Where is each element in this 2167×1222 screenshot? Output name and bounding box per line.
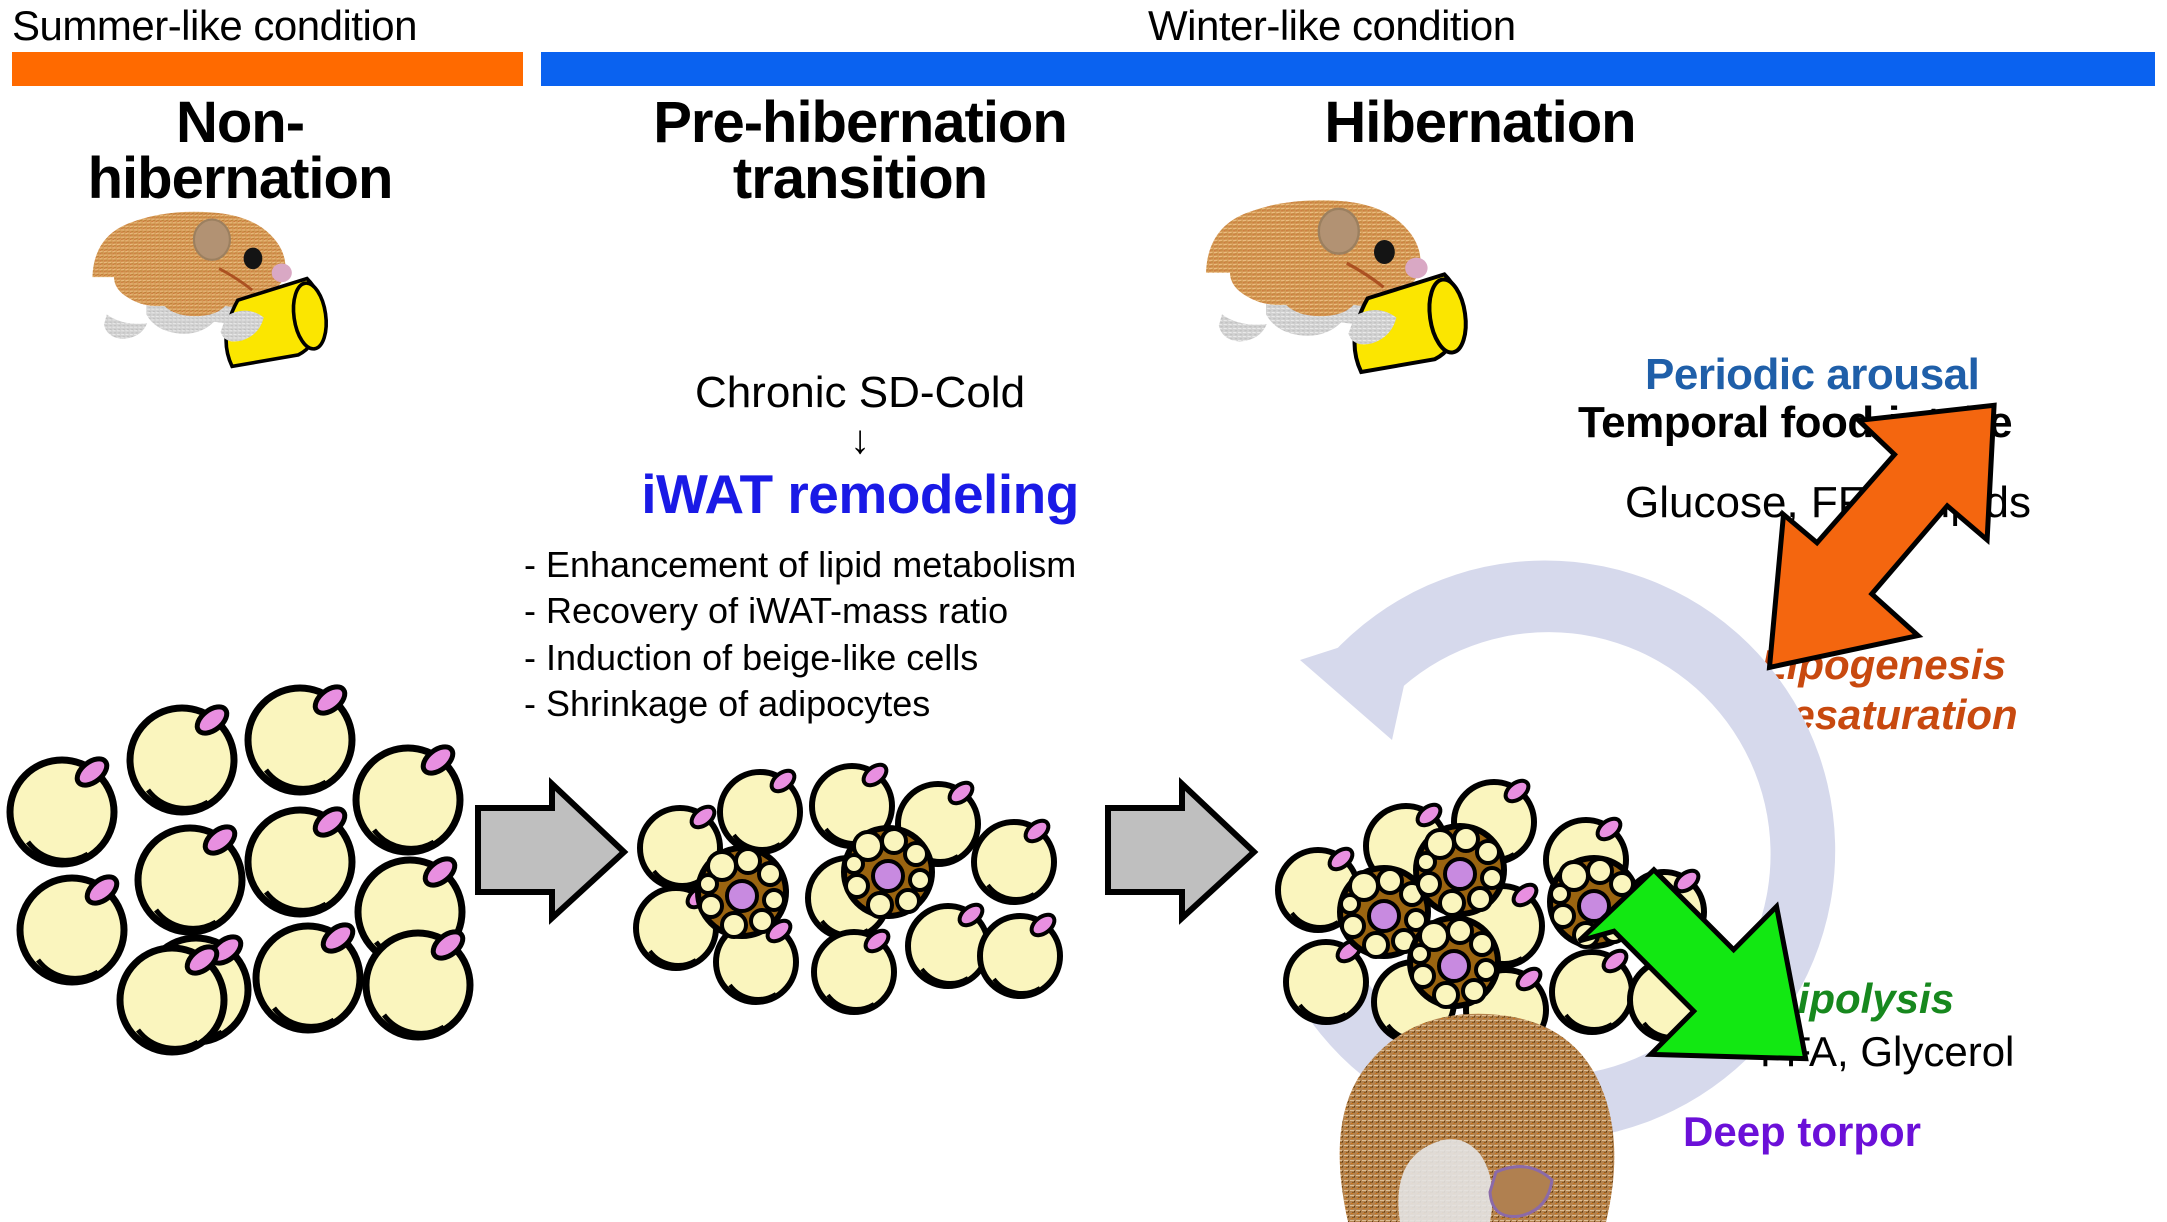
chronic-sd-cold-label: Chronic SD-Cold <box>560 368 1160 418</box>
stage-title-non-hibernation: Non- hibernation <box>0 95 480 208</box>
adipocyte-cluster-hibernation <box>1278 777 1710 1050</box>
lipogenesis-label: Lipogenesis <box>1761 640 2018 690</box>
substrates-out-label: FFA, Glycerol <box>1760 1028 2014 1076</box>
stage-title-pre-hibernation: Pre-hibernation transition <box>540 95 1180 208</box>
down-arrow-icon: ↓ <box>560 420 1160 460</box>
list-item: - Induction of beige-like cells <box>524 635 1204 681</box>
summer-condition-bar <box>12 52 523 86</box>
temporal-food-intake-label: Temporal food-intake <box>1578 398 2012 448</box>
stage-title-non-hibernation-line1: Non- <box>0 95 480 151</box>
stage-title-pre-hibernation-line1: Pre-hibernation <box>540 95 1180 151</box>
lipogenesis-desaturation-label: Lipogenesis Desaturation <box>1761 640 2018 739</box>
list-item: - Enhancement of lipid metabolism <box>524 542 1204 588</box>
substrates-in-label: Glucose, FFA, Lipids <box>1625 478 2031 528</box>
list-item: - Shrinkage of adipocytes <box>524 681 1204 727</box>
hibernation-cycle-arrow <box>1300 560 1835 1140</box>
desaturation-label: Desaturation <box>1761 690 2018 740</box>
stage-title-non-hibernation-line2: hibernation <box>0 151 480 207</box>
hamster-illustration-hibernation <box>1206 200 1470 372</box>
stage-title-pre-hibernation-line2: transition <box>540 151 1180 207</box>
hamster-illustration-non-hibernation <box>92 212 330 367</box>
adipocyte-cluster-non-hibernation <box>10 682 470 1052</box>
winter-condition-bar <box>541 52 2155 86</box>
iwat-remodeling-label: iWAT remodeling <box>540 462 1180 526</box>
lipolysis-label: Lipolysis <box>1772 975 1954 1023</box>
torpid-hamster-illustration <box>1340 1014 1615 1222</box>
transition-arrow-2 <box>1108 784 1254 918</box>
periodic-arousal-label: Periodic arousal <box>1645 350 1979 400</box>
transition-arrow-1 <box>478 784 624 918</box>
stage-title-hibernation: Hibernation <box>1210 95 1750 151</box>
deep-torpor-label: Deep torpor <box>1683 1108 1921 1156</box>
list-item: - Recovery of iWAT-mass ratio <box>524 588 1204 634</box>
summer-condition-label: Summer-like condition <box>12 2 417 50</box>
adipocyte-cluster-pre-hibernation <box>636 761 1060 1012</box>
iwat-effects-list: - Enhancement of lipid metabolism - Reco… <box>524 542 1204 728</box>
winter-condition-label: Winter-like condition <box>1148 2 1516 50</box>
